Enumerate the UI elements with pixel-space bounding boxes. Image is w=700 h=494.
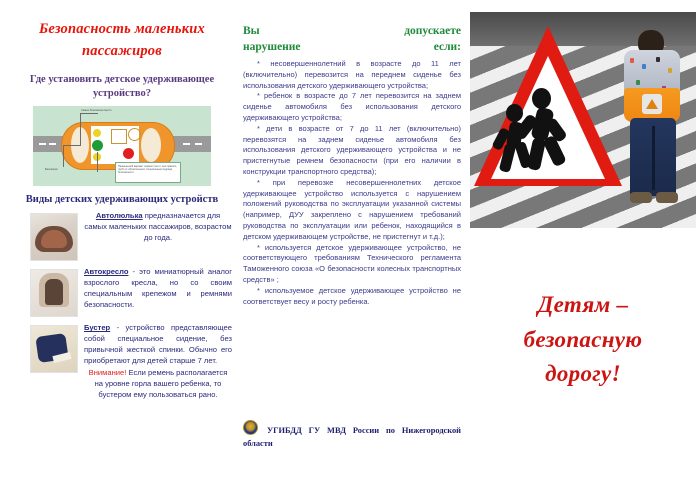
device-term-buster: Бустер bbox=[84, 323, 110, 332]
front-seat-icon bbox=[111, 129, 127, 144]
child-car-seat-photo bbox=[30, 269, 78, 317]
device-term-avtokreslo: Автокресло bbox=[84, 267, 128, 276]
issuing-authority-footer: УГИБДД ГУ МВД России по Нижегородской об… bbox=[243, 420, 461, 450]
road-dash bbox=[49, 143, 56, 145]
leader-line bbox=[63, 145, 64, 167]
running-child-front-head bbox=[532, 88, 551, 109]
violation-item: * используемое детское удерживающее устр… bbox=[243, 286, 461, 308]
issuing-authority-text: УГИБДД ГУ МВД России по Нижегородской об… bbox=[243, 426, 461, 448]
police-emblem-icon bbox=[243, 420, 258, 435]
leader-line bbox=[80, 113, 81, 145]
violation-item: * при перевозке несовершеннолетних детск… bbox=[243, 178, 461, 243]
right-column: Детям – безопасную дорогу! bbox=[470, 12, 696, 482]
boy-shoe-left bbox=[630, 192, 652, 203]
violations-heading-line2: нарушение если: bbox=[243, 40, 461, 56]
violation-item: * несовершеннолетний в возрасте до 11 ле… bbox=[243, 59, 461, 91]
leader-line bbox=[97, 152, 98, 172]
device-entry-buster: Бустер - устройство представляющее собой… bbox=[8, 323, 236, 400]
diagram-callout-note: Наименьший вариант первом том-то, как пр… bbox=[115, 162, 181, 183]
leader-line bbox=[63, 145, 81, 146]
booster-warning-word: Внимание! bbox=[89, 368, 127, 377]
slogan-line-2: безопасную bbox=[470, 323, 696, 358]
middle-column: Вы допускаете нарушение если: * несоверш… bbox=[243, 24, 461, 474]
left-column: Безопасность маленьких пассажиров Где ус… bbox=[8, 18, 236, 478]
device-entry-avtokreslo: Автокресло - это миниатюрный аналог взро… bbox=[8, 267, 236, 317]
diagram-label-safe: Безопасно bbox=[45, 168, 58, 171]
violations-list: * несовершеннолетний в возрасте до 11 ле… bbox=[243, 59, 461, 307]
campaign-slogan: Детям – безопасную дорогу! bbox=[470, 288, 696, 392]
slogan-line-1: Детям – bbox=[470, 288, 696, 323]
car-seat-placement-diagram: Самое безопасное место Безопасно Наимень… bbox=[33, 106, 211, 186]
slogan-line-3: дорогу! bbox=[470, 357, 696, 392]
device-entry-autolyulka: Автолюлька предназначается для самых мал… bbox=[8, 211, 236, 261]
infant-carrier-photo bbox=[30, 213, 78, 261]
backpack-reflector-patch bbox=[642, 94, 662, 114]
violations-heading: Вы допускаете нарушение если: bbox=[243, 24, 461, 55]
violations-heading-line1: Вы допускаете bbox=[243, 25, 461, 37]
violation-item: * ребенок в возрасте до 7 лет перевозитс… bbox=[243, 91, 461, 123]
backpack-pattern bbox=[642, 64, 646, 69]
device-term-autolyulka: Автолюлька bbox=[96, 211, 143, 220]
boy-with-backpack-photo bbox=[616, 30, 690, 220]
children-crossing-sign-collage bbox=[470, 12, 696, 228]
running-child-rear-head bbox=[506, 104, 523, 122]
device-types-heading: Виды детских удерживающих устройств bbox=[8, 194, 236, 205]
road-dash bbox=[183, 143, 190, 145]
leader-line bbox=[80, 113, 98, 114]
boy-shoe-right bbox=[656, 192, 678, 203]
install-location-subheading: Где установить детское удерживающее устр… bbox=[8, 73, 236, 100]
backpack-pattern bbox=[668, 68, 672, 73]
children-crossing-warning-sign bbox=[474, 26, 622, 202]
brochure-title: Безопасность маленьких пассажиров bbox=[8, 18, 236, 63]
backpack-pattern bbox=[656, 57, 660, 62]
violation-item: * дети в возрасте от 7 до 11 лет (включи… bbox=[243, 124, 461, 178]
leg-separation bbox=[652, 126, 655, 190]
backpack-pattern bbox=[630, 58, 634, 63]
backpack-pattern bbox=[636, 80, 640, 85]
diagram-label-safest-place: Самое безопасное место bbox=[81, 109, 111, 112]
road-dash bbox=[195, 143, 202, 145]
booster-seat-photo bbox=[30, 325, 78, 373]
rear-window bbox=[141, 128, 161, 162]
brochure-page: Безопасность маленьких пассажиров Где ус… bbox=[0, 0, 700, 494]
road-dash bbox=[39, 143, 46, 145]
violation-item: * используется детское удерживающее устр… bbox=[243, 243, 461, 286]
